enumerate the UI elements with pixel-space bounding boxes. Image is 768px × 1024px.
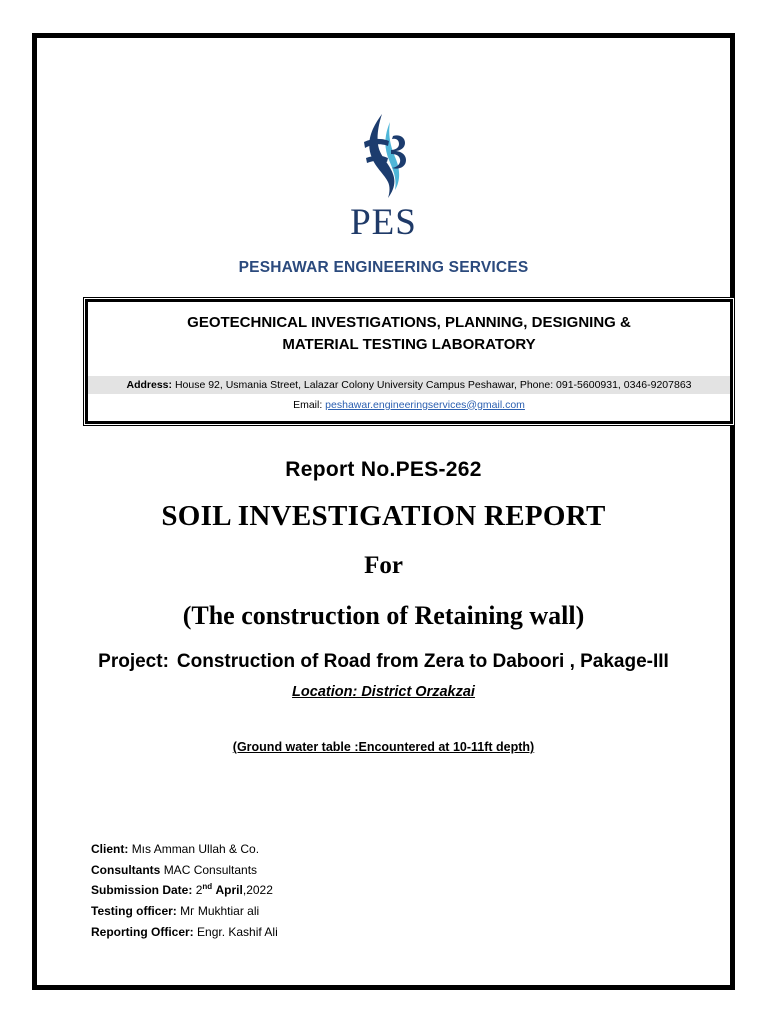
project-label: Project: xyxy=(98,651,169,672)
detail-row-testing-officer: Testing officer: Mг Mukhtiar ali xyxy=(91,901,278,922)
submission-date-month: April xyxy=(216,883,243,897)
header-info-box-inner: GEOTECHNICAL INVESTIGATIONS, PLANNING, D… xyxy=(85,299,733,424)
company-logo-block: PES xyxy=(37,110,730,241)
services-title: GEOTECHNICAL INVESTIGATIONS, PLANNING, D… xyxy=(88,312,730,356)
address-band: Address: House 92, Usmania Street, Lalaz… xyxy=(88,376,730,394)
client-value: Mıs Amman Ullah & Co. xyxy=(132,842,259,856)
project-line: Project:Construction of Road from Zera t… xyxy=(37,651,730,673)
detail-row-consultants: Consultants MAC Consultants xyxy=(91,860,278,881)
services-title-line-1: GEOTECHNICAL INVESTIGATIONS, PLANNING, D… xyxy=(110,312,708,334)
testing-officer-value: Mг Mukhtiar ali xyxy=(180,904,259,918)
testing-officer-label: Testing officer: xyxy=(91,904,177,918)
detail-row-submission-date: Submission Date: 2nd April,2022 xyxy=(91,880,278,901)
page-border-frame: PES PESHAWAR ENGINEERING SERVICES GEOTEC… xyxy=(32,33,735,990)
address-label: Address: xyxy=(127,379,173,391)
report-subject: (The construction of Retaining wall) xyxy=(37,601,730,631)
header-info-box: GEOTECHNICAL INVESTIGATIONS, PLANNING, D… xyxy=(83,297,735,426)
address-text: House 92, Usmania Street, Lalazar Colony… xyxy=(175,379,692,391)
report-details-block: Client: Mıs Amman Ullah & Co. Consultant… xyxy=(91,839,278,942)
pes-abstract-figure-logo-icon xyxy=(344,110,424,202)
client-label: Client: xyxy=(91,842,128,856)
email-line: Email: peshawar.engineeringservices@gmai… xyxy=(88,399,730,411)
detail-row-client: Client: Mıs Amman Ullah & Co. xyxy=(91,839,278,860)
location-line: Location: District Orzakzai xyxy=(37,684,730,700)
email-link[interactable]: peshawar.engineeringservices@gmail.com xyxy=(325,399,525,411)
services-title-line-2: MATERIAL TESTING LABORATORY xyxy=(110,334,708,356)
reporting-officer-label: Reporting Officer: xyxy=(91,925,194,939)
logo-wordmark: PES xyxy=(37,204,730,241)
submission-date-label: Submission Date: xyxy=(91,883,192,897)
detail-row-reporting-officer: Reporting Officer: Engr. Kashif Ali xyxy=(91,922,278,943)
ground-water-note-text: (Ground water table :Encountered at 10-1… xyxy=(233,740,534,754)
reporting-officer-value: Engr. Kashif Ali xyxy=(197,925,278,939)
report-number: Report No.PES-262 xyxy=(37,458,730,482)
submission-date-year: ,2022 xyxy=(243,883,273,897)
for-word: For xyxy=(37,552,730,580)
company-name: PESHAWAR ENGINEERING SERVICES xyxy=(37,259,730,277)
report-main-title: SOIL INVESTIGATION REPORT xyxy=(37,500,730,533)
submission-date-ordinal: nd xyxy=(202,882,212,891)
ground-water-note: (Ground water table :Encountered at 10-1… xyxy=(37,740,730,754)
consultants-value: MAC Consultants xyxy=(164,863,257,877)
location-text: Location: District Orzakzai xyxy=(292,684,475,700)
page-content: PES PESHAWAR ENGINEERING SERVICES GEOTEC… xyxy=(37,38,730,985)
project-value: Construction of Road from Zera to Daboor… xyxy=(177,651,669,672)
consultants-label: Consultants xyxy=(91,863,160,877)
document-page: PES PESHAWAR ENGINEERING SERVICES GEOTEC… xyxy=(0,0,768,1024)
email-label: Email: xyxy=(293,399,322,411)
